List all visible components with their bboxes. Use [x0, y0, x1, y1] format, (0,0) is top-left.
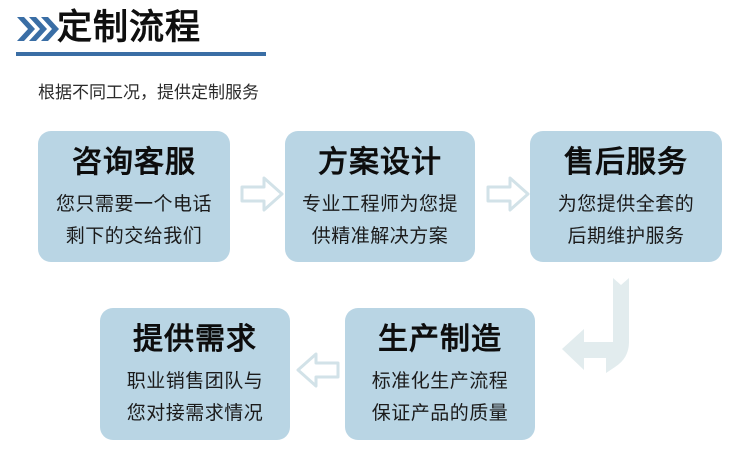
step-description-line: 剩下的交给我们: [56, 220, 212, 252]
step-description: 为您提供全套的 后期维护服务: [558, 188, 695, 252]
process-step-card-4[interactable]: 提供需求 职业销售团队与 您对接需求情况: [100, 308, 290, 440]
step-description-line: 后期维护服务: [558, 220, 695, 252]
step-title: 提供需求: [133, 320, 257, 360]
step-description: 职业销售团队与 您对接需求情况: [127, 365, 264, 429]
step-description-line: 供精准解决方案: [302, 220, 458, 252]
step-title: 咨询客服: [72, 143, 196, 183]
page-title: 定制流程: [57, 6, 201, 50]
step-title: 方案设计: [318, 143, 442, 183]
page-subtitle: 根据不同工况，提供定制服务: [38, 80, 259, 106]
arrow-left-icon: [294, 346, 342, 394]
process-step-card-1[interactable]: 咨询客服 您只需要一个电话 剩下的交给我们: [38, 131, 230, 262]
step-description-line: 专业工程师为您提: [302, 188, 458, 220]
step-description-line: 为您提供全套的: [558, 188, 695, 220]
step-description-line: 您对接需求情况: [127, 397, 264, 429]
step-title: 售后服务: [564, 143, 688, 183]
step-description-line: 标准化生产流程: [372, 365, 509, 397]
arrow-right-icon: [484, 170, 532, 218]
arrow-uturn-down-left-icon: [558, 272, 668, 382]
title-underline-rule: [16, 52, 266, 56]
page-header: 定制流程 根据不同工况，提供定制服务: [0, 0, 750, 66]
step-description-line: 职业销售团队与: [127, 365, 264, 397]
triple-chevron-right-icon: [16, 14, 60, 44]
process-step-card-2[interactable]: 方案设计 专业工程师为您提 供精准解决方案: [285, 131, 475, 262]
step-description: 标准化生产流程 保证产品的质量: [372, 365, 509, 429]
step-description-line: 保证产品的质量: [372, 397, 509, 429]
step-title: 生产制造: [378, 320, 502, 360]
step-description: 专业工程师为您提 供精准解决方案: [302, 188, 458, 252]
slide-canvas: 定制流程 根据不同工况，提供定制服务 咨询客服 您只需要一个电话 剩下的交给我们…: [0, 0, 750, 462]
step-description-line: 您只需要一个电话: [56, 188, 212, 220]
step-description: 您只需要一个电话 剩下的交给我们: [56, 188, 212, 252]
arrow-right-icon: [238, 170, 286, 218]
process-step-card-3[interactable]: 售后服务 为您提供全套的 后期维护服务: [530, 131, 722, 262]
process-step-card-5[interactable]: 生产制造 标准化生产流程 保证产品的质量: [345, 308, 535, 440]
